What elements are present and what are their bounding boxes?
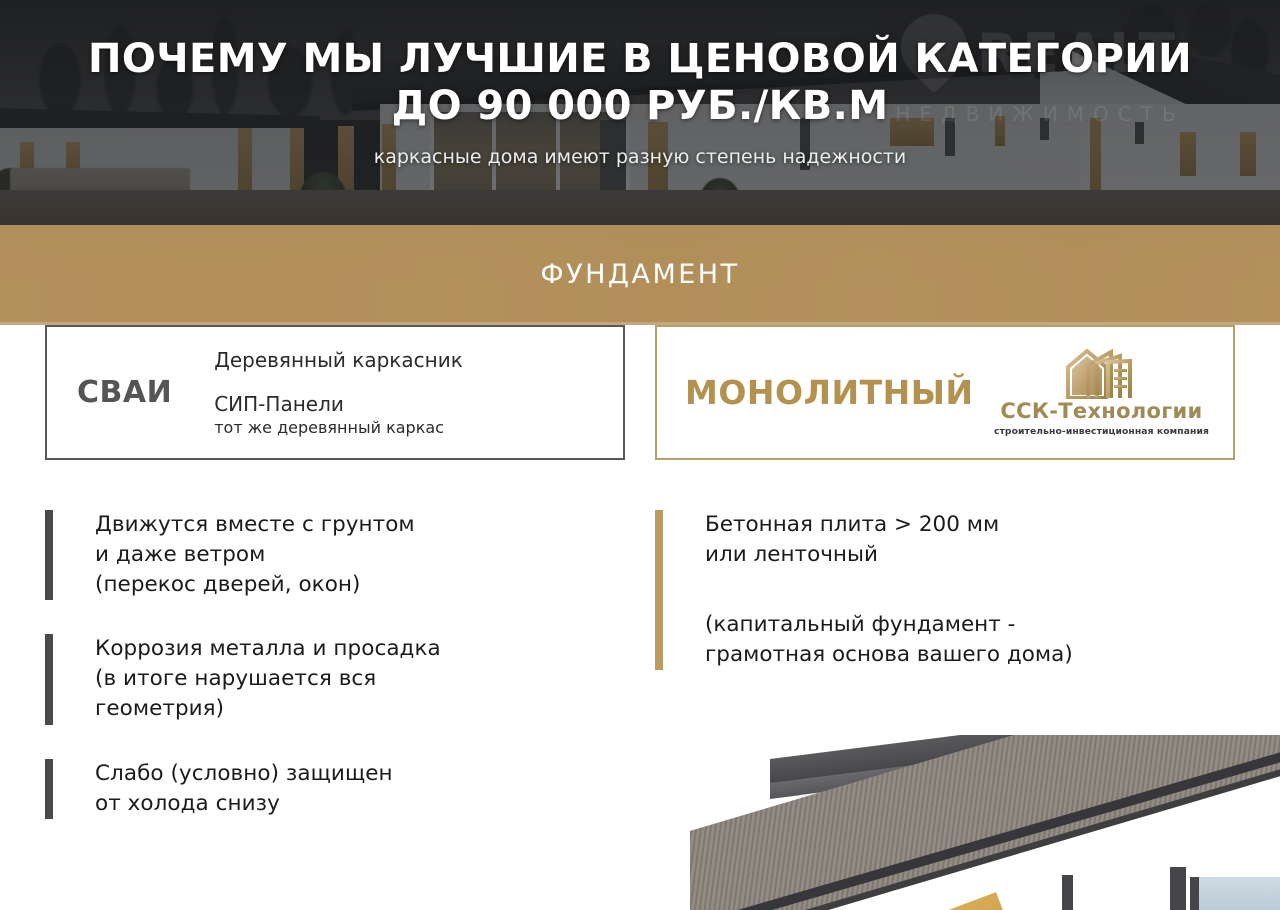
building-house-icon <box>994 349 1209 399</box>
page-title-line-2: ДО 90 000 РУБ./КВ.М <box>0 83 1280 130</box>
card-piles-line-3: тот же деревянный каркас <box>214 418 463 437</box>
section-title: ФУНДАМЕНТ <box>0 225 1280 325</box>
list-item-body: Бетонная плита > 200 мм или ленточный (к… <box>705 510 1073 670</box>
company-logo: ССК-Технологии строительно-инвестиционна… <box>994 349 1209 437</box>
hero-text-block: ПОЧЕМУ МЫ ЛУЧШИЕ В ЦЕНОВОЙ КАТЕГОРИИ ДО … <box>0 0 1280 168</box>
card-piles-line-2: СИП-Панели <box>214 392 463 416</box>
list-item: Бетонная плита > 200 мм или ленточный (к… <box>655 510 1235 670</box>
page-title-line-1: ПОЧЕМУ МЫ ЛУЧШИЕ В ЦЕНОВОЙ КАТЕГОРИИ <box>0 36 1280 83</box>
accent-bar <box>45 510 53 600</box>
list-item: Коррозия металла и просадка (в итоге нар… <box>45 634 625 724</box>
card-monolithic-header: МОНОЛИТНЫЙ <box>655 325 1235 460</box>
piles-drawback-list: Движутся вместе с грунтом и даже ветром … <box>45 510 625 819</box>
accent-bar <box>655 510 663 670</box>
column-piles: СВАИ Деревянный каркасник СИП-Панели тот… <box>45 325 625 819</box>
card-piles-line-1: Деревянный каркасник <box>214 348 463 372</box>
infographic-page: REALT НЕДВИЖИМОСТЬ ПОЧЕМУ МЫ ЛУЧШИЕ В ЦЕ… <box>0 0 1280 910</box>
list-item-text: Движутся вместе с грунтом и даже ветром … <box>95 510 415 600</box>
card-piles-tag: СВАИ <box>47 375 172 410</box>
card-piles-lines: Деревянный каркасник СИП-Панели тот же д… <box>214 348 463 437</box>
list-item-text: (капитальный фундамент - грамотная основ… <box>705 610 1073 670</box>
list-item-text: Слабо (условно) защищен от холода снизу <box>95 759 393 819</box>
hero-banner: REALT НЕДВИЖИМОСТЬ ПОЧЕМУ МЫ ЛУЧШИЕ В ЦЕ… <box>0 0 1280 225</box>
accent-bar <box>45 759 53 819</box>
page-subtitle: каркасные дома имеют разную степень наде… <box>0 146 1280 168</box>
list-item-text: Коррозия металла и просадка (в итоге нар… <box>95 634 441 724</box>
company-logo-name: ССК-Технологии <box>994 401 1209 422</box>
card-piles-header: СВАИ Деревянный каркасник СИП-Панели тот… <box>45 325 625 460</box>
list-item-text: Бетонная плита > 200 мм или ленточный <box>705 510 1073 570</box>
card-monolithic-tag: МОНОЛИТНЫЙ <box>657 373 974 412</box>
section-band-foundation: ФУНДАМЕНТ <box>0 225 1280 325</box>
column-monolithic: МОНОЛИТНЫЙ <box>655 325 1235 670</box>
list-item: Слабо (условно) защищен от холода снизу <box>45 759 625 819</box>
page-title: ПОЧЕМУ МЫ ЛУЧШИЕ В ЦЕНОВОЙ КАТЕГОРИИ ДО … <box>0 36 1280 130</box>
monolithic-benefit-list: Бетонная плита > 200 мм или ленточный (к… <box>655 510 1235 670</box>
accent-bar <box>45 634 53 724</box>
list-item: Движутся вместе с грунтом и даже ветром … <box>45 510 625 600</box>
company-logo-tagline: строительно-инвестиционная компания <box>994 426 1209 437</box>
comparison-content: СВАИ Деревянный каркасник СИП-Панели тот… <box>0 325 1280 910</box>
